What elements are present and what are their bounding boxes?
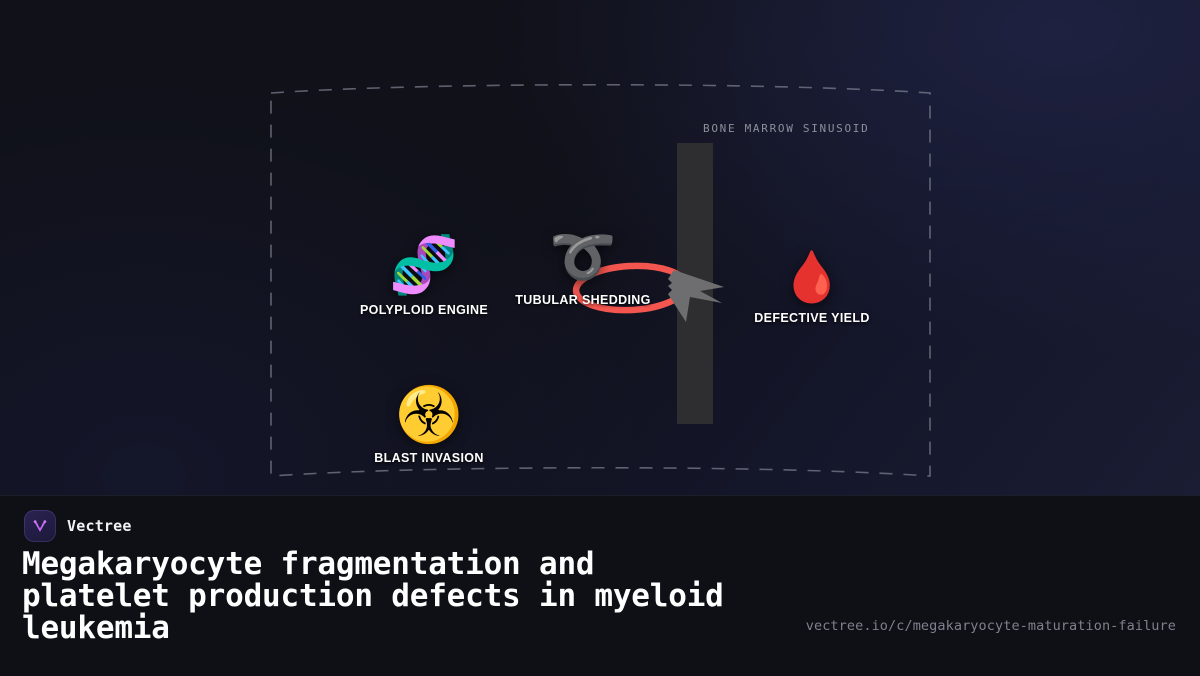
node-label-defective-yield: DEFECTIVE YIELD [754,311,869,325]
vectree-tree-mark-icon [24,510,56,542]
brand-row[interactable]: Vectree [24,510,132,542]
biohazard-icon: ☣️ [395,388,462,442]
node-blast-invasion[interactable]: ☣️ BLAST INVASION [334,388,524,465]
diagram-scene: BONE MARROW SINUSOID 🧬 POLYPLOID ENGINE … [0,0,1200,495]
page-title: Megakaryocyte fragmentation and platelet… [22,548,742,644]
blood-drop-icon: 🩸 [781,252,843,302]
caption-footer: Vectree Megakaryocyte fragmentation and … [0,495,1200,676]
brand-name: Vectree [67,517,132,535]
node-label-tubular-shedding: TUBULAR SHEDDING [515,293,650,307]
node-label-polyploid-engine: POLYPLOID ENGINE [360,303,488,317]
node-tubular-shedding[interactable]: ➰ TUBULAR SHEDDING [488,230,678,307]
dna-icon: 🧬 [389,238,459,294]
node-defective-yield[interactable]: 🩸 DEFECTIVE YIELD [717,252,907,325]
curly-loop-icon: ➰ [549,230,616,284]
node-label-blast-invasion: BLAST INVASION [374,451,484,465]
source-url: vectree.io/c/megakaryocyte-maturation-fa… [806,618,1176,634]
bone-marrow-sinusoid-label: BONE MARROW SINUSOID [703,122,869,135]
